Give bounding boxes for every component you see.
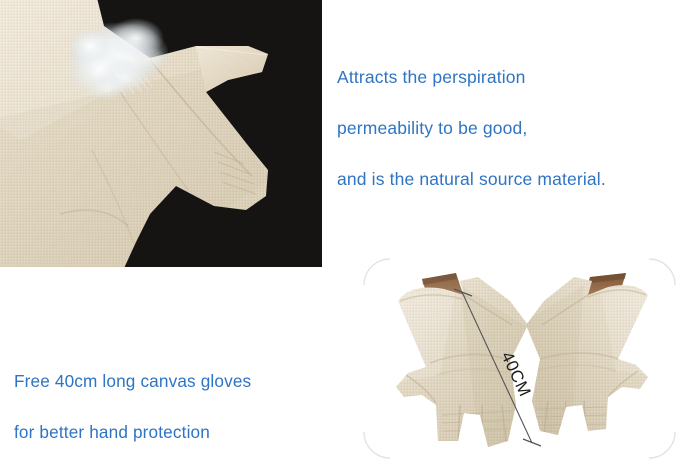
glove-steam-illustration (0, 0, 322, 267)
subline-line-1: Free 40cm long canvas gloves (14, 356, 334, 407)
product-photo-pair: 40CM (360, 255, 679, 462)
headline-line-3: and is the natural source material. (337, 154, 679, 205)
gloves-pair-illustration: 40CM (360, 255, 679, 462)
headline-line-2: permeability to be good, (337, 103, 679, 154)
subline-text-block: Free 40cm long canvas gloves for better … (14, 356, 334, 458)
product-photo-steam (0, 0, 322, 267)
subline-line-2: for better hand protection (14, 407, 334, 458)
headline-line-1: Attracts the perspiration (337, 52, 679, 103)
headline-text-block: Attracts the perspiration permeability t… (337, 52, 679, 205)
